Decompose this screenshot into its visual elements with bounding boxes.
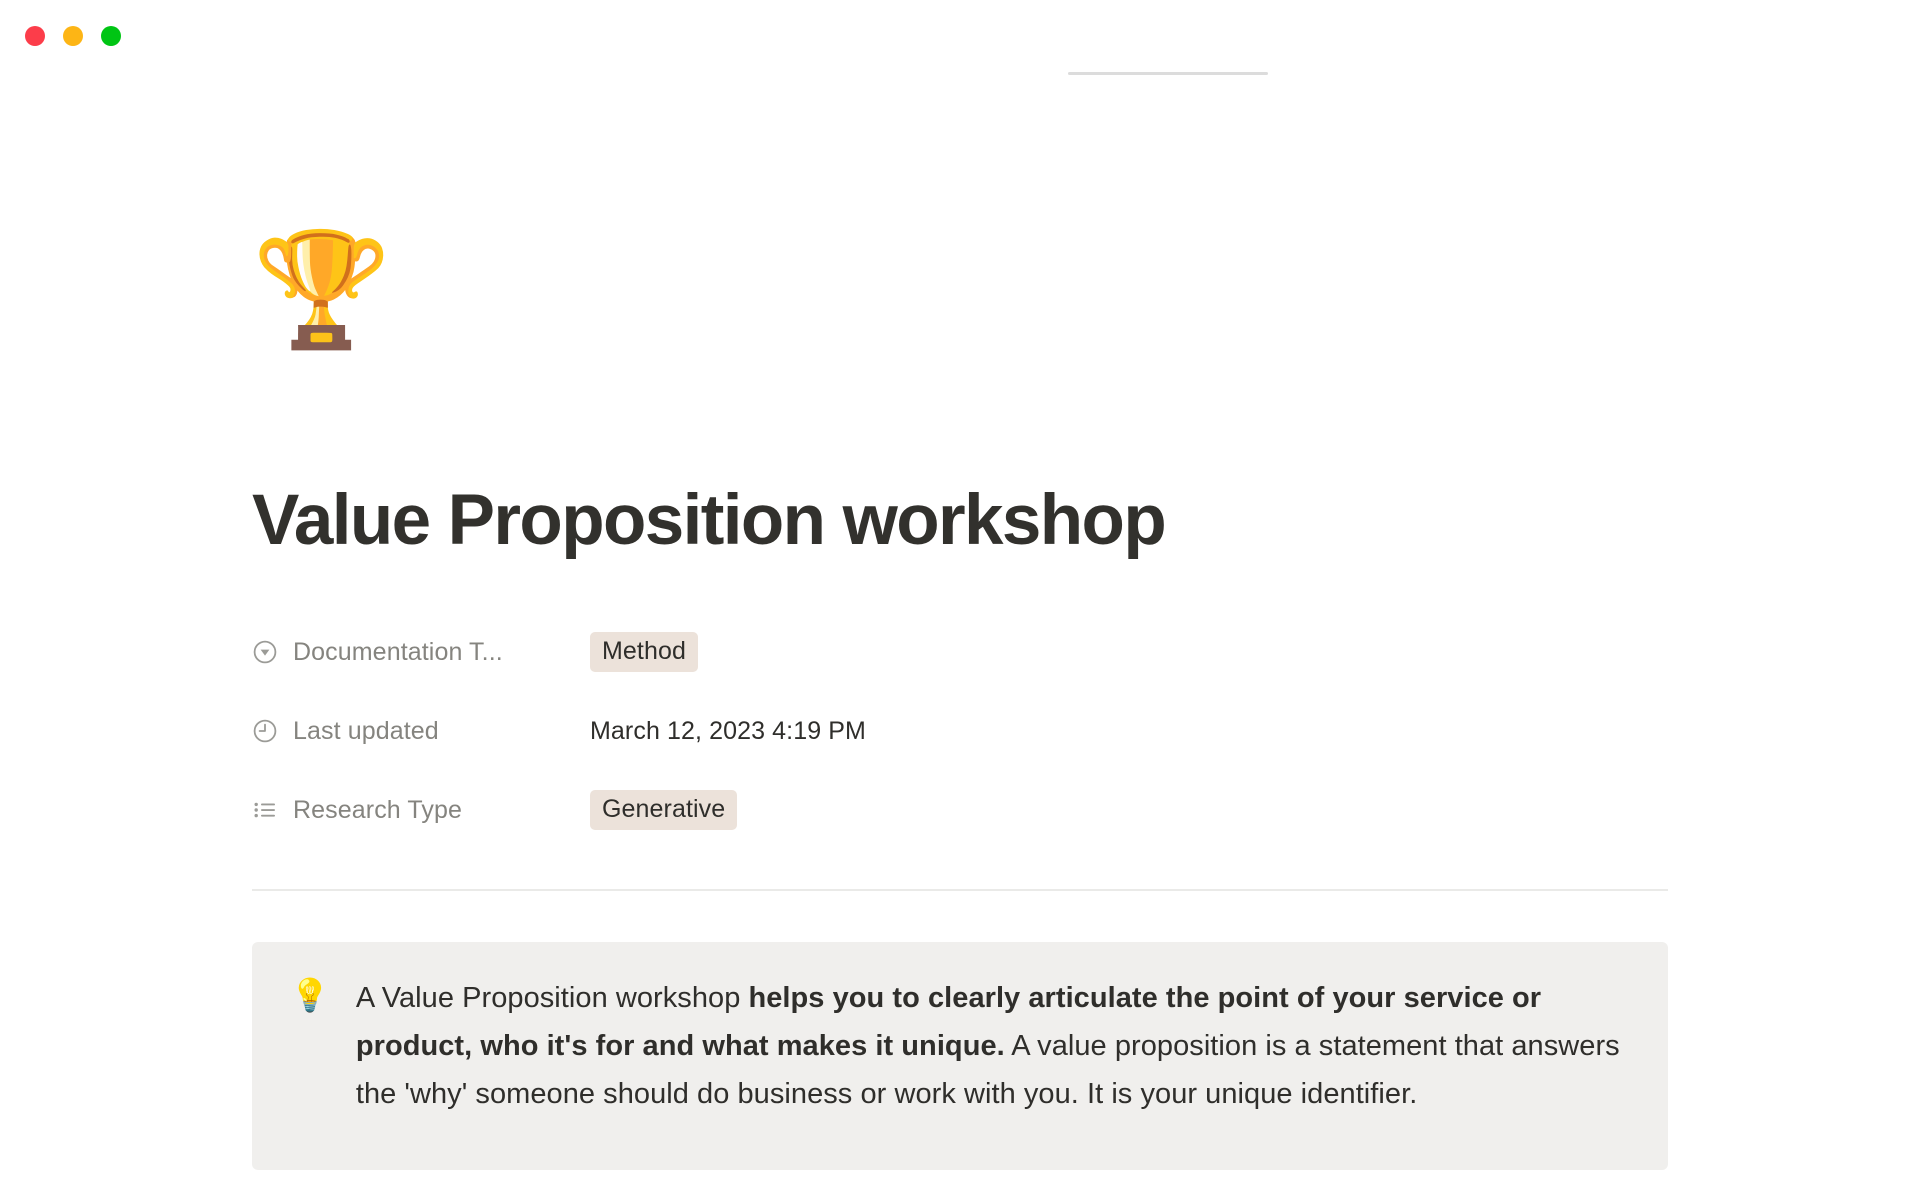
property-label-documentation-type[interactable]: Documentation T...: [252, 638, 590, 667]
property-label-research-type[interactable]: Research Type: [252, 796, 590, 825]
document-page: 🏆 Value Proposition workshop Documentati…: [0, 0, 1920, 1200]
property-label-last-updated[interactable]: Last updated: [252, 717, 590, 746]
property-value-documentation-type[interactable]: Method: [590, 632, 698, 672]
page-title[interactable]: Value Proposition workshop: [252, 483, 1165, 560]
callout-text: A Value Proposition workshop helps you t…: [356, 974, 1620, 1140]
property-value-last-updated[interactable]: March 12, 2023 4:19 PM: [590, 717, 866, 746]
select-circle-chevron-icon: [252, 639, 278, 665]
clock-icon: [252, 718, 278, 744]
property-row-documentation-type[interactable]: Documentation T... Method: [252, 628, 1672, 676]
property-name-research-type: Research Type: [293, 796, 462, 825]
property-name-last-updated: Last updated: [293, 717, 439, 746]
callout-block[interactable]: 💡 A Value Proposition workshop helps you…: [252, 942, 1668, 1170]
tag-generative[interactable]: Generative: [590, 790, 737, 830]
property-value-research-type[interactable]: Generative: [590, 790, 737, 830]
bulleted-list-icon: [252, 797, 278, 823]
property-row-last-updated[interactable]: Last updated March 12, 2023 4:19 PM: [252, 707, 1672, 755]
tag-method[interactable]: Method: [590, 632, 698, 672]
light-bulb-emoji[interactable]: 💡: [290, 974, 330, 1140]
content-divider: [252, 889, 1668, 891]
trophy-emoji[interactable]: 🏆: [252, 234, 391, 346]
property-name-documentation-type: Documentation T...: [293, 638, 503, 667]
property-row-research-type[interactable]: Research Type Generative: [252, 786, 1672, 834]
last-updated-timestamp: March 12, 2023 4:19 PM: [590, 717, 866, 746]
callout-text-lead: A Value Proposition workshop: [356, 982, 749, 1014]
page-properties: Documentation T... Method Last updated M…: [252, 628, 1672, 865]
